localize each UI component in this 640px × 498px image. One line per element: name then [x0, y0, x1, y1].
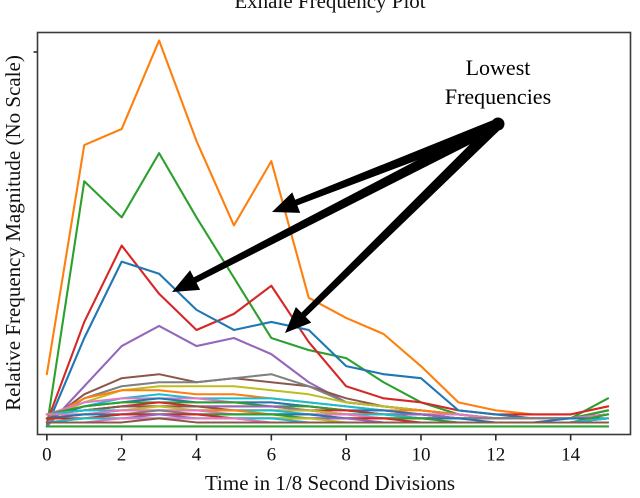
x-tick-label-4: 4 [192, 445, 202, 466]
x-tick-label-8: 8 [341, 445, 351, 466]
annotation-label-line2: Frequencies [445, 84, 551, 109]
x-tick-label-0: 0 [42, 445, 52, 466]
x-tick-label-12: 12 [486, 445, 505, 466]
x-axis-title: Time in 1/8 Second Divisions [205, 471, 455, 495]
y-axis-title: Relative Frequency Magnitude (No Scale) [1, 55, 25, 411]
x-tick-label-10: 10 [411, 445, 430, 466]
annotation-label-line1: Lowest [466, 55, 531, 80]
x-tick-label-2: 2 [117, 445, 127, 466]
x-tick-label-14: 14 [561, 445, 581, 466]
exhale-frequency-plot: Exhale Frequency Plot Relative Frequency… [0, 0, 640, 498]
x-tick-label-6: 6 [267, 445, 277, 466]
page-title: Exhale Frequency Plot [234, 0, 425, 13]
figure-container: Exhale Frequency Plot Relative Frequency… [0, 0, 640, 498]
